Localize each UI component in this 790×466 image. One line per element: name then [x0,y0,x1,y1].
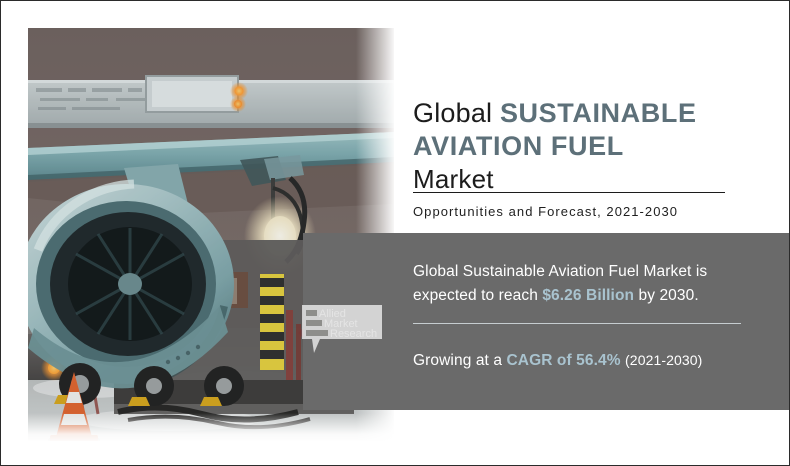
panel-divider [413,323,741,324]
market-value-statement: Global Sustainable Aviation Fuel Market … [413,260,753,308]
stat-panel-left-blend [303,233,399,410]
cagr-prefix: Growing at a [413,352,506,369]
headline-line-1: Global SUSTAINABLE [413,97,743,130]
cagr-statement: Growing at a CAGR of 56.4% (2021-2030) [413,352,702,370]
page-title: Global SUSTAINABLE AVIATION FUEL Market [413,97,743,196]
headline-line-2: AVIATION FUEL [413,130,743,163]
subtitle: Opportunities and Forecast, 2021-2030 [413,204,678,219]
cagr-period: (2021-2030) [625,352,702,368]
title-divider [413,192,725,193]
headline-accent-1: SUSTAINABLE [500,98,697,128]
infographic-card: Global SUSTAINABLE AVIATION FUEL Market … [0,0,790,466]
headline-accent-2: AVIATION FUEL [413,131,624,161]
cagr-value: CAGR of 56.4% [506,352,620,369]
headline-prefix: Global [413,98,500,128]
stat-value: $6.26 Billion [542,287,634,304]
stat-suffix: by 2030. [634,287,699,304]
